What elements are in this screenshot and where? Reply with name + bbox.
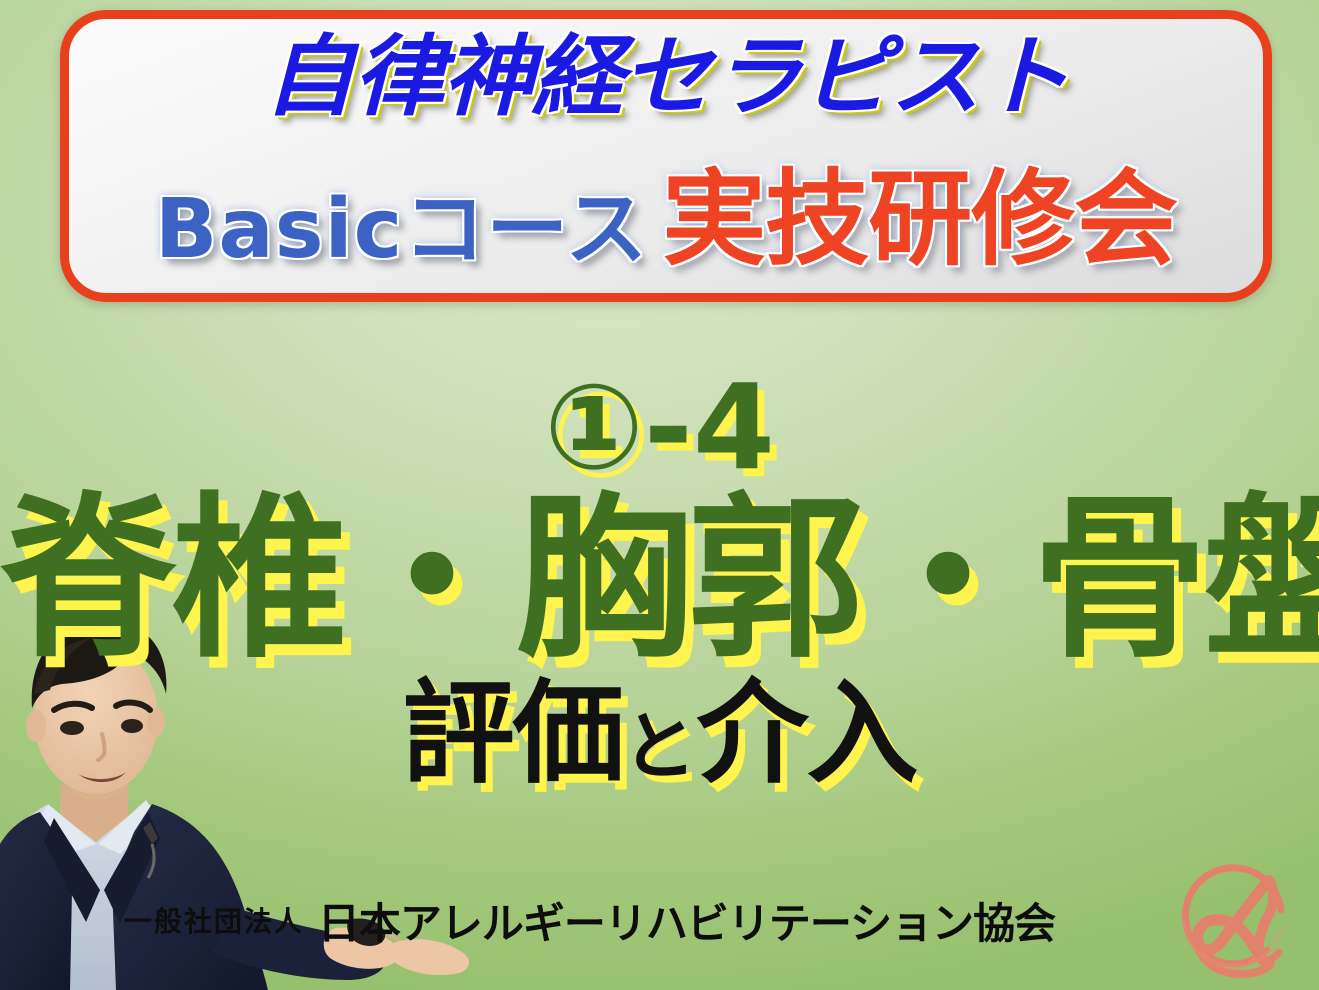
subtitle-part-intervention: 介入 (697, 678, 917, 790)
header-title-line1-text: 自律神経セラピスト (264, 33, 1069, 121)
slide-canvas: 自律神経セラピスト Basicコース 実技研修会 ①-4 脊椎・胸郭・骨盤 評価… (0, 0, 1319, 990)
header-workshop-label: 実技研修会 (662, 167, 1177, 271)
org-name: 日本アレルギーリハビリテーション協会 (318, 890, 1055, 951)
section-number-text: ①-4 (544, 368, 775, 486)
section-number: ①-4 (0, 368, 1319, 486)
page-title-text: 脊椎・胸郭・骨盤 (0, 492, 1319, 668)
header-course-label: Basicコース (155, 189, 648, 271)
subtitle-part-conjunction: と (623, 710, 697, 784)
page-subtitle: 評価と介入 (0, 678, 1319, 790)
footer-organization: 一般社団法人 日本アレルギーリハビリテーション協会 (0, 890, 1319, 950)
header-plaque: 自律神経セラピスト Basicコース 実技研修会 (60, 10, 1272, 302)
header-title-line1: 自律神経セラピスト (69, 33, 1263, 121)
subtitle-part-evaluation: 評価 (403, 678, 623, 790)
header-title-line2: Basicコース 実技研修会 (69, 167, 1263, 271)
page-title: 脊椎・胸郭・骨盤 (0, 492, 1319, 668)
org-legal-prefix: 一般社団法人 (124, 900, 304, 940)
association-logo: Japan Allergy Rehabilitation Association (1163, 846, 1303, 986)
